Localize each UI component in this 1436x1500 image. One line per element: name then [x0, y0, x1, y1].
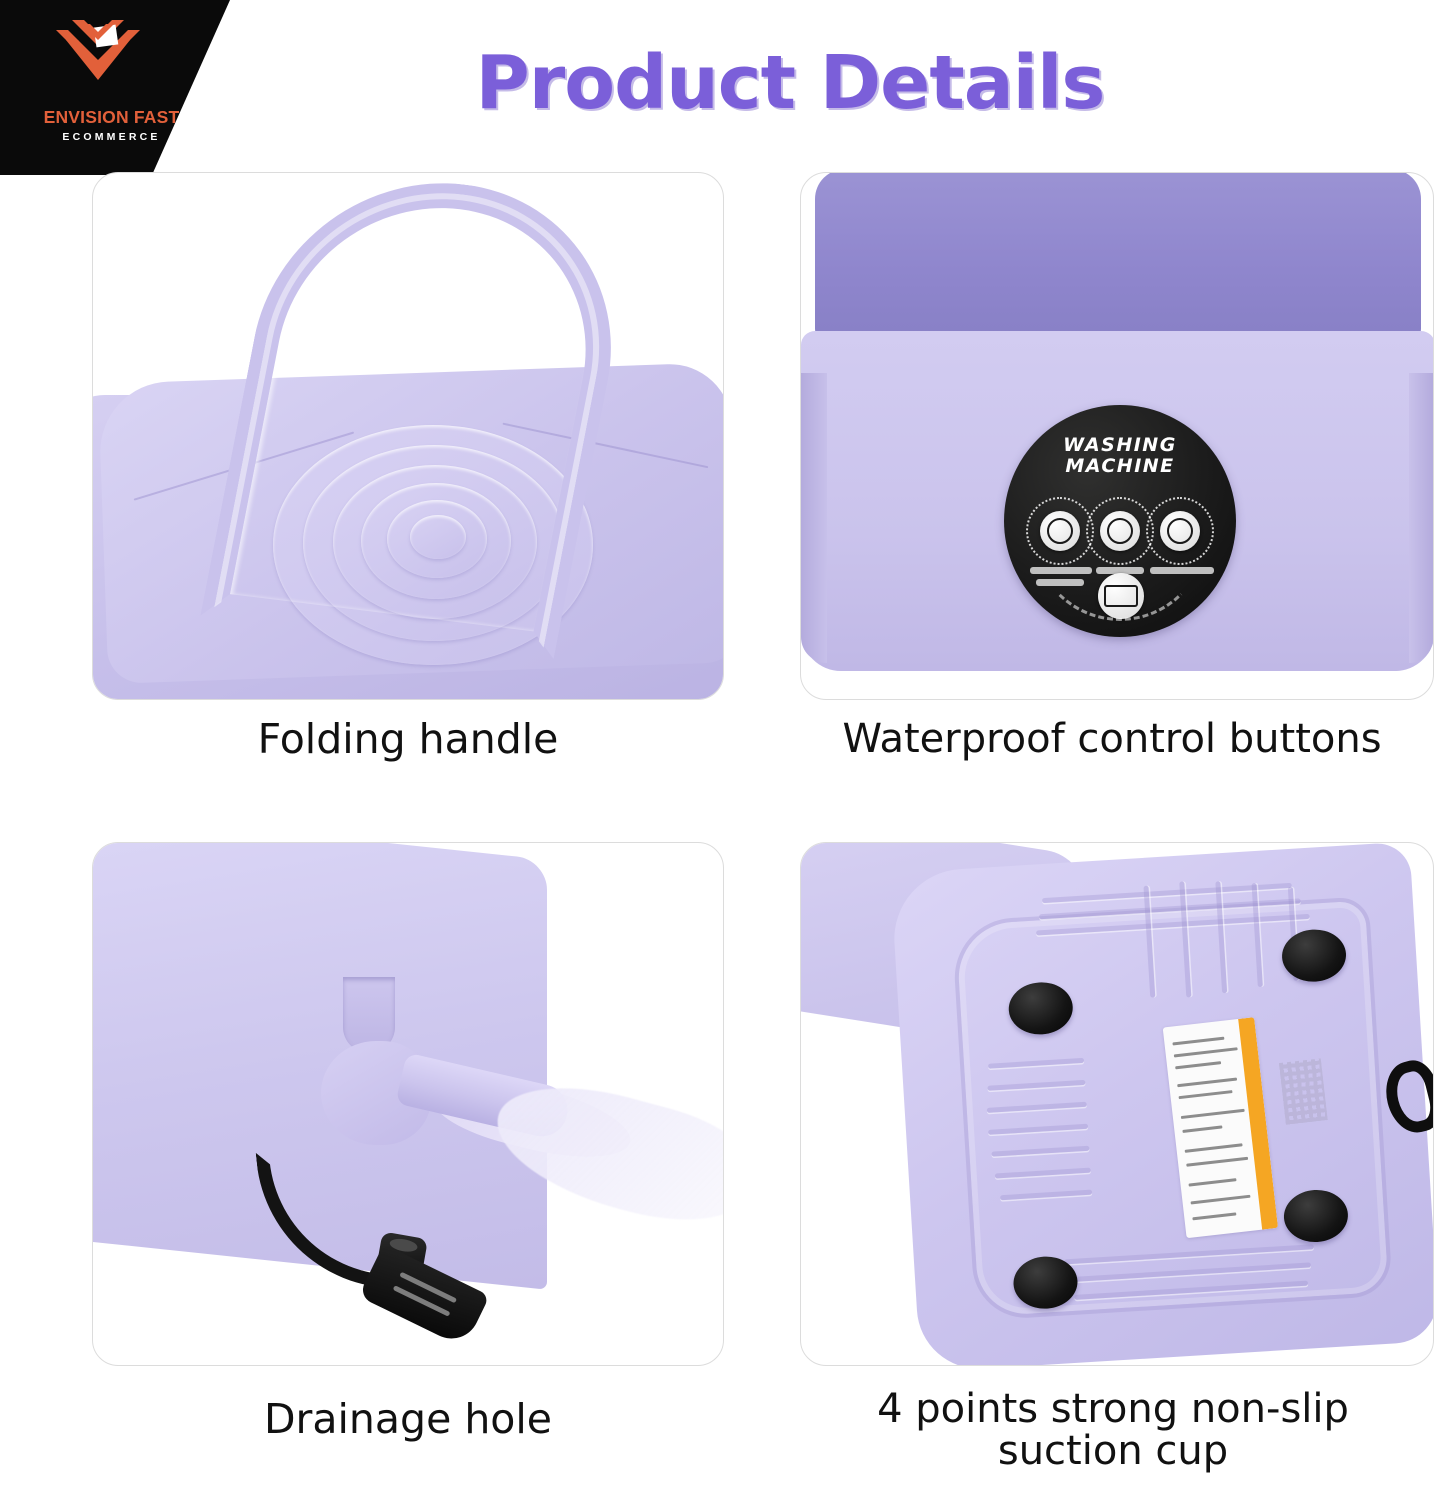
chevron-logo-icon: [52, 18, 144, 98]
washer-lid-band: [815, 172, 1421, 339]
caption-suction-cup-line-2: suction cup: [998, 1428, 1228, 1474]
caption-suction-cup: 4 points strong non-slip suction cup: [790, 1388, 1436, 1473]
drainage-illustration: [93, 843, 723, 1365]
brand-subtitle: ECOMMERCE: [24, 131, 199, 143]
suction-cup-illustration: [801, 843, 1433, 1365]
product-details-page: ENVISION FAST ECOMMERCE Product Details …: [0, 0, 1436, 1500]
brand-line-1: WASHING: [1063, 434, 1177, 456]
qr-code: [1279, 1058, 1328, 1124]
caption-suction-cup-line-1: 4 points strong non-slip: [877, 1386, 1349, 1432]
panel-drainage-hole: [92, 842, 724, 1366]
caption-control-buttons: Waterproof control buttons: [788, 718, 1436, 760]
caption-folding-handle: Folding handle: [92, 718, 724, 761]
panel-folding-handle: [92, 172, 724, 700]
panel-control-buttons: WASHING MACHINE: [800, 172, 1434, 700]
washer-right-edge: [1409, 373, 1433, 663]
page-title: Product Details: [240, 40, 1340, 126]
control-buttons-illustration: WASHING MACHINE: [801, 173, 1433, 699]
control-panel-dial[interactable]: WASHING MACHINE: [1004, 405, 1236, 637]
washer-left-edge: [801, 373, 827, 663]
folding-handle-illustration: [93, 173, 723, 699]
dial-arc-decoration: [1032, 525, 1208, 621]
brand-name: ENVISION FAST: [24, 107, 199, 128]
panel-suction-cup: [800, 842, 1434, 1366]
control-panel-brand: WASHING MACHINE: [1004, 435, 1236, 476]
caption-drainage-hole: Drainage hole: [92, 1398, 724, 1441]
brand-line-2: MACHINE: [1065, 455, 1174, 477]
washer-base-underside: [890, 842, 1434, 1366]
brand-logo-badge: ENVISION FAST ECOMMERCE: [0, 0, 230, 175]
